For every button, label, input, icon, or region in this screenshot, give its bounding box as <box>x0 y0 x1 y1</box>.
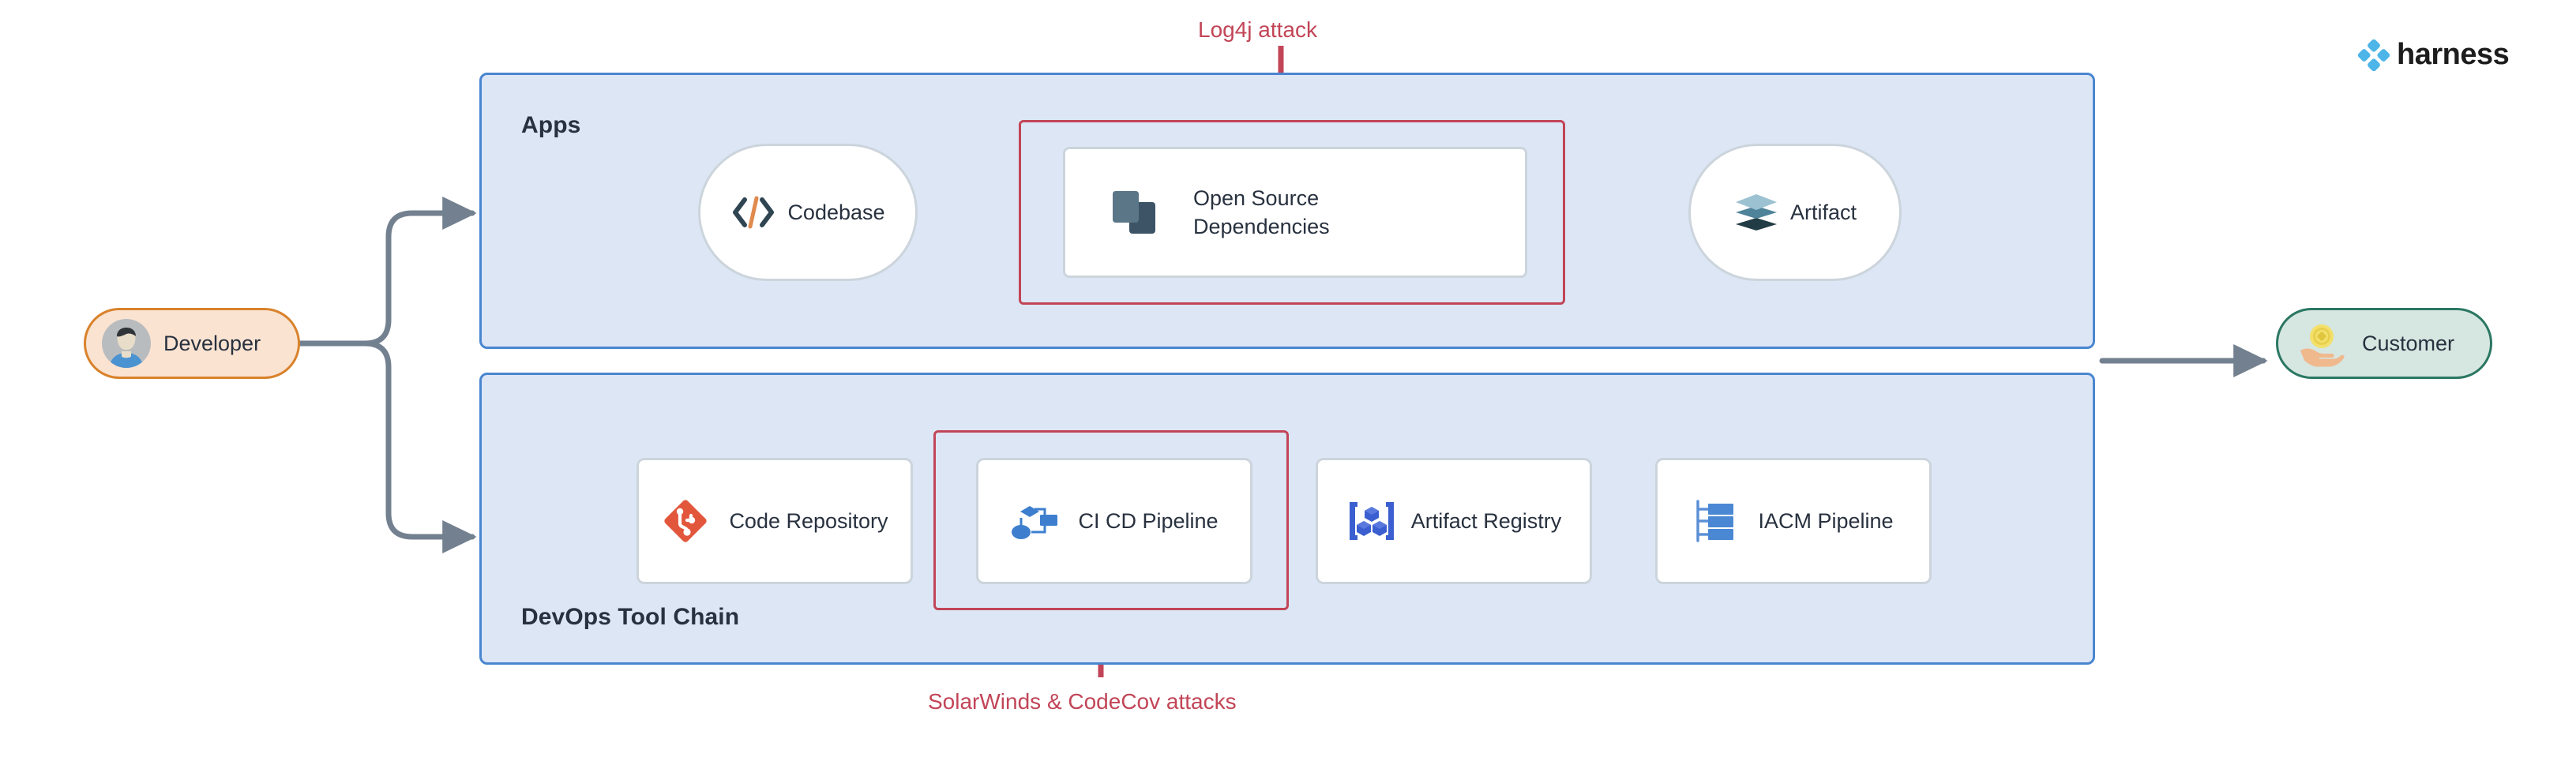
node-label-iacm-pipeline: IACM Pipeline <box>1758 507 1893 535</box>
group-title-devops-tool-chain: DevOps Tool Chain <box>521 604 739 631</box>
node-codebase[interactable]: Codebase <box>698 144 918 281</box>
threat-label-solarwinds-codecov: SolarWinds & CodeCov attacks <box>928 689 1237 714</box>
harness-diamond-logo-icon <box>2358 39 2390 71</box>
threat-label-log4j: Log4j attack <box>1198 17 1317 43</box>
hand-holding-coin-icon <box>2297 319 2349 368</box>
node-label-code-repository: Code Repository <box>729 507 888 535</box>
node-label-codebase: Codebase <box>787 201 884 225</box>
pipeline-flow-icon <box>1010 499 1059 543</box>
node-artifact[interactable]: Artifact <box>1688 144 1902 281</box>
brand-logo: harness <box>2358 38 2509 72</box>
node-label-customer: Customer <box>2362 332 2454 356</box>
node-iacm-pipeline[interactable]: IACM Pipeline <box>1655 458 1932 584</box>
node-label-open-source-dependencies: Open Source Dependencies <box>1193 184 1330 242</box>
node-label-artifact-registry: Artifact Registry <box>1411 507 1562 535</box>
node-customer[interactable]: Customer <box>2276 308 2492 379</box>
gitlab-diamond-icon <box>661 497 710 545</box>
brand-name: harness <box>2397 38 2509 72</box>
stacked-layers-icon <box>1733 191 1779 234</box>
developer-avatar-icon <box>102 319 151 368</box>
registry-cubes-icon <box>1346 497 1397 545</box>
group-title-apps: Apps <box>521 112 580 139</box>
node-artifact-registry[interactable]: Artifact Registry <box>1316 458 1592 584</box>
node-ci-cd-pipeline[interactable]: CI CD Pipeline <box>976 458 1252 584</box>
flow-developer-to-groups <box>300 213 472 537</box>
node-developer[interactable]: Developer <box>84 308 300 379</box>
node-code-repository[interactable]: Code Repository <box>636 458 913 584</box>
node-label-ci-cd-pipeline: CI CD Pipeline <box>1078 507 1218 535</box>
node-label-developer: Developer <box>163 332 261 356</box>
diagram-canvas: harness Apps DevOps Tool Chain Developer <box>0 0 2576 761</box>
node-open-source-dependencies[interactable]: Open Source Dependencies <box>1063 147 1527 278</box>
code-brackets-icon <box>730 193 776 231</box>
stacked-squares-icon <box>1110 188 1158 237</box>
bar-tree-icon <box>1693 497 1739 545</box>
node-label-artifact: Artifact <box>1790 201 1857 225</box>
